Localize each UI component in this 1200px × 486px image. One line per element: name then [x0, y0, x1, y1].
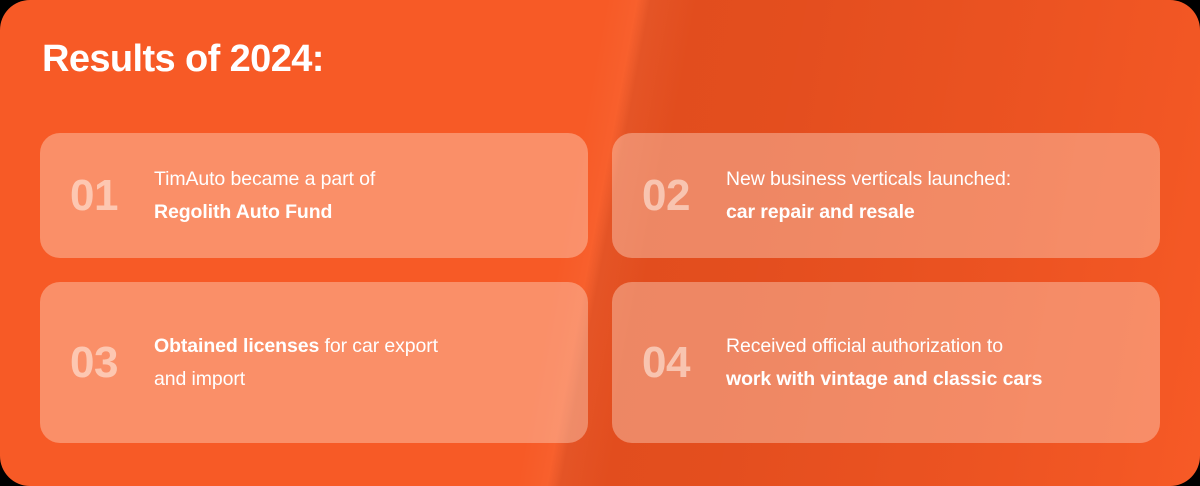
result-card-line-2: work with vintage and classic cars: [726, 363, 1134, 396]
result-card-line-2-regular: and import: [154, 368, 245, 390]
result-card-text: TimAuto became a part of Regolith Auto F…: [154, 163, 562, 229]
results-cards-grid: 01 TimAuto became a part of Regolith Aut…: [40, 133, 1160, 443]
result-card-line-1-regular: New business verticals launched:: [726, 168, 1011, 190]
result-card-line-2: and import: [154, 363, 562, 396]
result-card-text: Obtained licenses for car export and imp…: [154, 330, 562, 396]
result-card-line-1-regular: TimAuto became a part of: [154, 168, 375, 190]
result-card-number: 04: [642, 341, 726, 385]
results-poster: Results of 2024: 01 TimAuto became a par…: [0, 0, 1200, 486]
result-card-line-1: New business verticals launched:: [726, 163, 1134, 196]
result-card-line-2: car repair and resale: [726, 196, 1134, 229]
result-card-line-1: Received official authorization to: [726, 330, 1134, 363]
result-card-line-1-regular: for car export: [319, 335, 438, 357]
result-card-number: 03: [70, 341, 154, 385]
result-card-line-2-bold: work with vintage and classic cars: [726, 368, 1042, 390]
result-card-line-2-bold: car repair and resale: [726, 201, 915, 223]
result-card-02[interactable]: 02 New business verticals launched: car …: [612, 133, 1160, 258]
result-card-line-1: Obtained licenses for car export: [154, 330, 562, 363]
result-card-04[interactable]: 04 Received official authorization to wo…: [612, 282, 1160, 443]
result-card-line-2: Regolith Auto Fund: [154, 196, 562, 229]
result-card-line-1-bold: Obtained licenses: [154, 335, 319, 357]
result-card-text: Received official authorization to work …: [726, 330, 1134, 396]
result-card-03[interactable]: 03 Obtained licenses for car export and …: [40, 282, 588, 443]
result-card-text: New business verticals launched: car rep…: [726, 163, 1134, 229]
result-card-number: 02: [642, 174, 726, 218]
page-title: Results of 2024:: [42, 36, 324, 82]
result-card-line-1: TimAuto became a part of: [154, 163, 562, 196]
result-card-line-1-regular: Received official authorization to: [726, 335, 1003, 357]
result-card-01[interactable]: 01 TimAuto became a part of Regolith Aut…: [40, 133, 588, 258]
result-card-line-2-bold: Regolith Auto Fund: [154, 201, 332, 223]
result-card-number: 01: [70, 174, 154, 218]
poster-content: Results of 2024: 01 TimAuto became a par…: [0, 0, 1200, 486]
